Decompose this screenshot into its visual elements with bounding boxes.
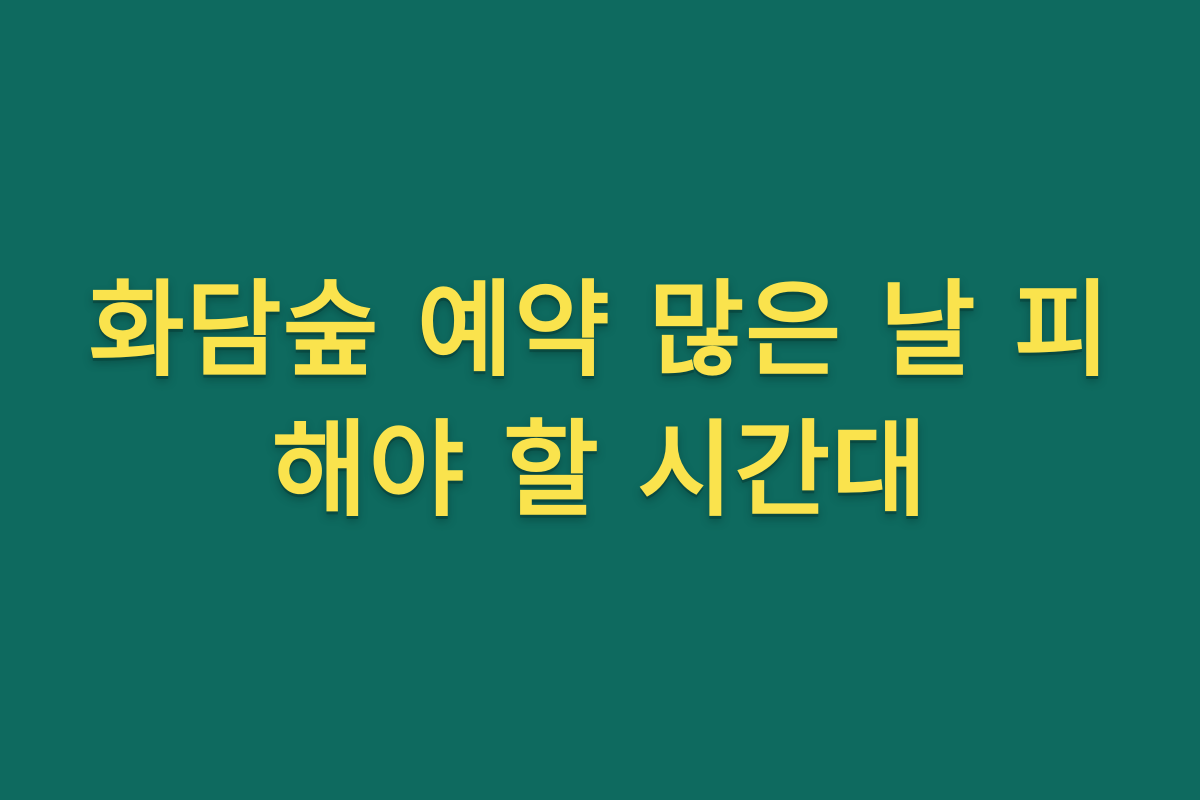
headline-text: 화담숲 예약 많은 날 피 해야 할 시간대 xyxy=(70,260,1130,541)
text-banner: 화담숲 예약 많은 날 피 해야 할 시간대 xyxy=(0,0,1200,800)
headline-line-2: 해야 할 시간대 xyxy=(70,400,1130,540)
headline-line-1: 화담숲 예약 많은 날 피 xyxy=(70,260,1130,400)
